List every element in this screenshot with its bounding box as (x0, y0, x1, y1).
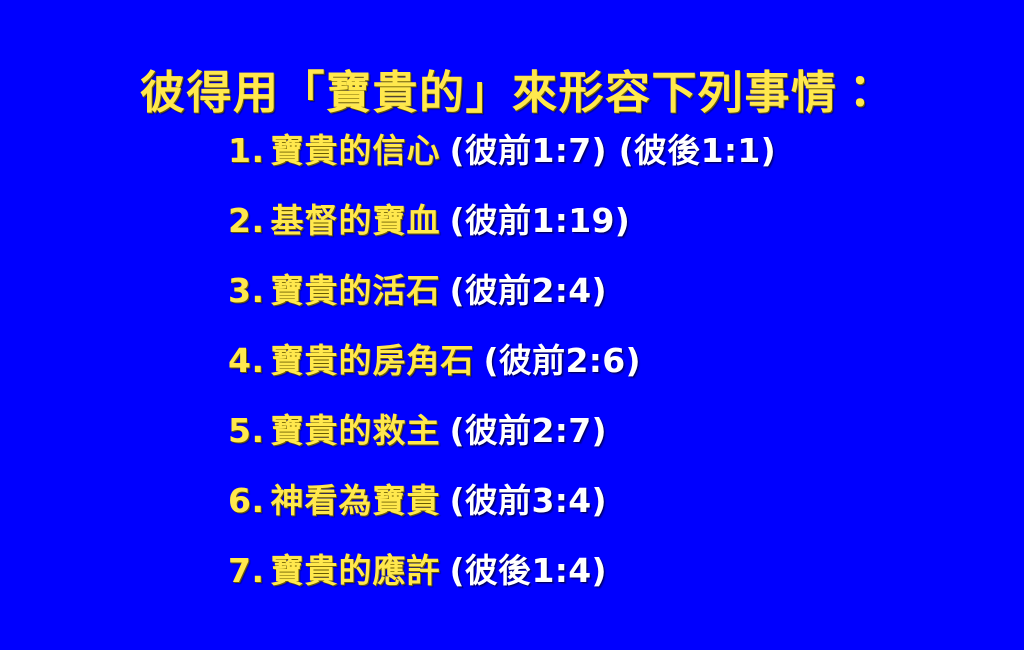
list-item-topic: 寶貴的活石 (271, 271, 441, 310)
list-item: 7.寶貴的應許(彼後1:4) (228, 548, 988, 618)
list-item-scripture-reference: (彼後1:4) (450, 551, 607, 590)
list-item-topic: 寶貴的房角石 (271, 341, 475, 380)
list-item: 6.神看為寶貴(彼前3:4) (228, 478, 988, 548)
point-list: 1.寶貴的信心(彼前1:7) (彼後1:1) 2.基督的寶血(彼前1:19) 3… (228, 128, 988, 618)
list-item-number: 2. (228, 201, 265, 240)
list-item: 3.寶貴的活石(彼前2:4) (228, 268, 988, 338)
list-item-scripture-reference: (彼前1:7) (彼後1:1) (450, 131, 777, 170)
list-item-scripture-reference: (彼前2:4) (450, 271, 607, 310)
list-item-number: 7. (228, 551, 265, 590)
list-item-scripture-reference: (彼前2:7) (450, 411, 607, 450)
list-item-scripture-reference: (彼前2:6) (484, 341, 641, 380)
presentation-slide: 彼得用「寶貴的」來形容下列事情： 1.寶貴的信心(彼前1:7) (彼後1:1) … (0, 0, 1024, 650)
list-item-topic: 基督的寶血 (271, 201, 441, 240)
list-item-scripture-reference: (彼前1:19) (450, 201, 631, 240)
page-title: 彼得用「寶貴的」來形容下列事情： (0, 66, 1024, 121)
list-item: 2.基督的寶血(彼前1:19) (228, 198, 988, 268)
list-item-topic: 寶貴的信心 (271, 131, 441, 170)
list-item-number: 4. (228, 341, 265, 380)
list-item: 4.寶貴的房角石(彼前2:6) (228, 338, 988, 408)
list-item-number: 5. (228, 411, 265, 450)
list-item-scripture-reference: (彼前3:4) (450, 481, 607, 520)
list-item: 1.寶貴的信心(彼前1:7) (彼後1:1) (228, 128, 988, 198)
list-item-topic: 神看為寶貴 (271, 481, 441, 520)
list-item-topic: 寶貴的應許 (271, 551, 441, 590)
list-item-topic: 寶貴的救主 (271, 411, 441, 450)
list-item-number: 6. (228, 481, 265, 520)
list-item: 5.寶貴的救主(彼前2:7) (228, 408, 988, 478)
list-item-number: 3. (228, 271, 265, 310)
list-item-number: 1. (228, 131, 265, 170)
